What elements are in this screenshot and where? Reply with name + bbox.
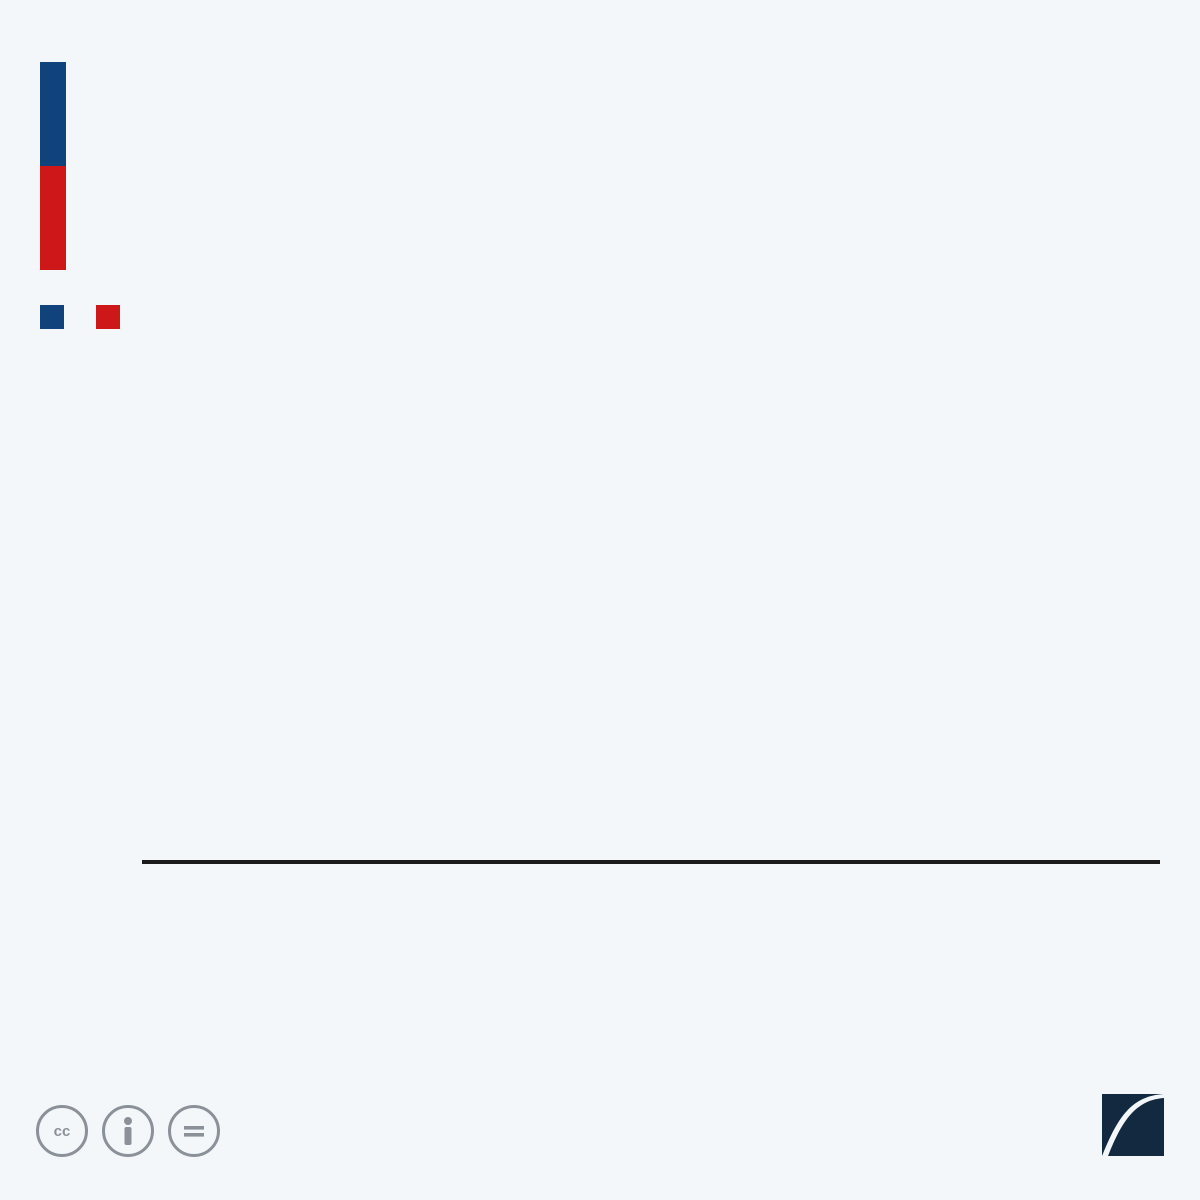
plot-area [150,375,1160,875]
infographic-page: cc [0,0,1200,1200]
by-person-icon[interactable] [102,1105,154,1157]
cc-icon[interactable]: cc [36,1105,88,1157]
legend-item-usa[interactable] [40,305,76,329]
page-title [84,58,1164,80]
legend-item-russia[interactable] [96,305,132,329]
x-axis-line [142,860,1160,864]
creative-commons-icons[interactable]: cc [36,1105,220,1157]
bar-series-container [150,375,1160,875]
accent-bar-blue [40,62,66,166]
brand-accent-bar [40,62,66,270]
equals-glyph [180,1122,208,1140]
person-glyph [117,1114,139,1148]
chart-legend [40,305,132,329]
statista-mark-icon [1102,1094,1164,1156]
svg-text:cc: cc [54,1123,71,1140]
no-derivatives-icon[interactable] [168,1105,220,1157]
x-axis-ticks [150,875,1160,945]
legend-swatch-russia [96,305,120,329]
accent-bar-red [40,166,66,270]
stacked-bar-chart [0,360,1200,880]
cc-glyph: cc [45,1121,79,1141]
statista-logo[interactable] [1094,1094,1164,1156]
legend-swatch-usa [40,305,64,329]
y-axis-labels [0,360,150,880]
